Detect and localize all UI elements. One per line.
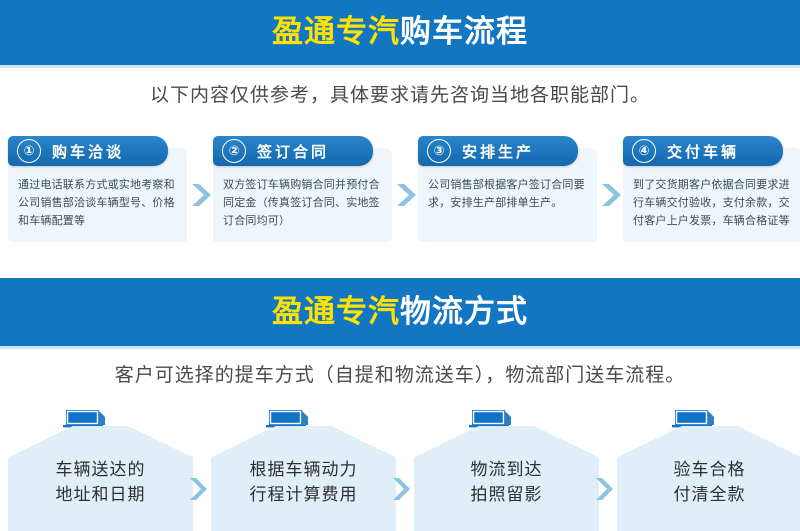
logistics-card-line2: 行程计算费用: [211, 483, 396, 508]
banner-subject: 物流方式: [400, 294, 528, 330]
step-number-badge: ①: [17, 139, 41, 163]
step-description: 公司销售部根据客户签订合同要求，安排生产部排单生产。: [428, 176, 588, 212]
logistics-banner: 盈通专汽物流方式: [0, 278, 800, 346]
step-number-badge: ④: [632, 139, 656, 163]
logistics-subtitle: 客户可选择的提车方式（自提和物流送车），物流部门送车流程。: [0, 360, 800, 387]
logistics-card-line2: 地址和日期: [8, 483, 193, 508]
logistics-card[interactable]: 物流到达 拍照留影: [414, 404, 599, 531]
step-title: 交付车辆: [667, 141, 739, 162]
step-card-header: ① 购车洽谈: [8, 136, 168, 166]
logistics-card-line1: 验车合格: [617, 458, 800, 483]
step-card[interactable]: ③ 安排生产 公司销售部根据客户签订合同要求，安排生产部排单生产。: [418, 136, 597, 242]
purchase-flow-subtitle: 以下内容仅供参考，具体要求请先咨询当地各职能部门。: [0, 80, 800, 107]
step-description: 到了交货期客户依据合同要求进行车辆交付验收，支付余款，交付客户上户发票，车辆合格…: [633, 176, 793, 229]
logistics-card[interactable]: 车辆送达的 地址和日期: [8, 404, 193, 531]
logistics-card-line2: 拍照留影: [414, 483, 599, 508]
step-number-badge: ③: [427, 139, 451, 163]
logistics-banner-title: 盈通专汽物流方式: [272, 297, 528, 328]
step-card-header: ② 签订合同: [213, 136, 373, 166]
step-description: 双方签订车辆购销合同并预付合同定金（传真签订合同、实地签订合同均可）: [223, 176, 383, 229]
step-card[interactable]: ① 购车洽谈 通过电话联系方式或实地考察和公司销售部洽谈车辆型号、价格和车辆配置…: [8, 136, 187, 242]
banner-subject: 购车流程: [400, 14, 528, 50]
step-title: 购车洽谈: [52, 141, 124, 162]
purchase-flow-banner-title: 盈通专汽购车流程: [272, 17, 528, 48]
step-description: 通过电话联系方式或实地考察和公司销售部洽谈车辆型号、价格和车辆配置等: [18, 176, 178, 229]
logistics-card-text: 根据车辆动力 行程计算费用: [211, 458, 396, 507]
logistics-card[interactable]: 验车合格 付清全款: [617, 404, 800, 531]
logistics-card[interactable]: 根据车辆动力 行程计算费用: [211, 404, 396, 531]
step-card-header: ③ 安排生产: [418, 136, 578, 166]
brand-name: 盈通专汽: [272, 14, 400, 50]
banner-divider: [0, 346, 800, 349]
step-card[interactable]: ② 签订合同 双方签订车辆购销合同并预付合同定金（传真签订合同、实地签订合同均可…: [213, 136, 392, 242]
step-number-badge: ②: [222, 139, 246, 163]
logistics-card-text: 验车合格 付清全款: [617, 458, 800, 507]
chevron-right-icon: [395, 182, 417, 208]
logistics-card-line1: 物流到达: [414, 458, 599, 483]
chevron-right-icon: [600, 182, 622, 208]
logistics-card-line1: 车辆送达的: [8, 458, 193, 483]
chevron-right-icon: [594, 476, 614, 502]
logistics-card-text: 物流到达 拍照留影: [414, 458, 599, 507]
purchase-flow-banner: 盈通专汽购车流程: [0, 0, 800, 65]
logistics-card-line2: 付清全款: [617, 483, 800, 508]
step-card-header: ④ 交付车辆: [623, 136, 783, 166]
logistics-card-line1: 根据车辆动力: [211, 458, 396, 483]
chevron-right-icon: [391, 476, 411, 502]
chevron-right-icon: [190, 182, 212, 208]
step-title: 安排生产: [462, 141, 534, 162]
banner-divider: [0, 65, 800, 68]
chevron-right-icon: [188, 476, 208, 502]
logistics-card-text: 车辆送达的 地址和日期: [8, 458, 193, 507]
logistics-step-list: 车辆送达的 地址和日期 根据车辆动力 行程计算费用: [0, 404, 800, 531]
step-card[interactable]: ④ 交付车辆 到了交货期客户依据合同要求进行车辆交付验收，支付余款，交付客户上户…: [623, 136, 800, 242]
step-title: 签订合同: [257, 141, 329, 162]
brand-name: 盈通专汽: [272, 294, 400, 330]
